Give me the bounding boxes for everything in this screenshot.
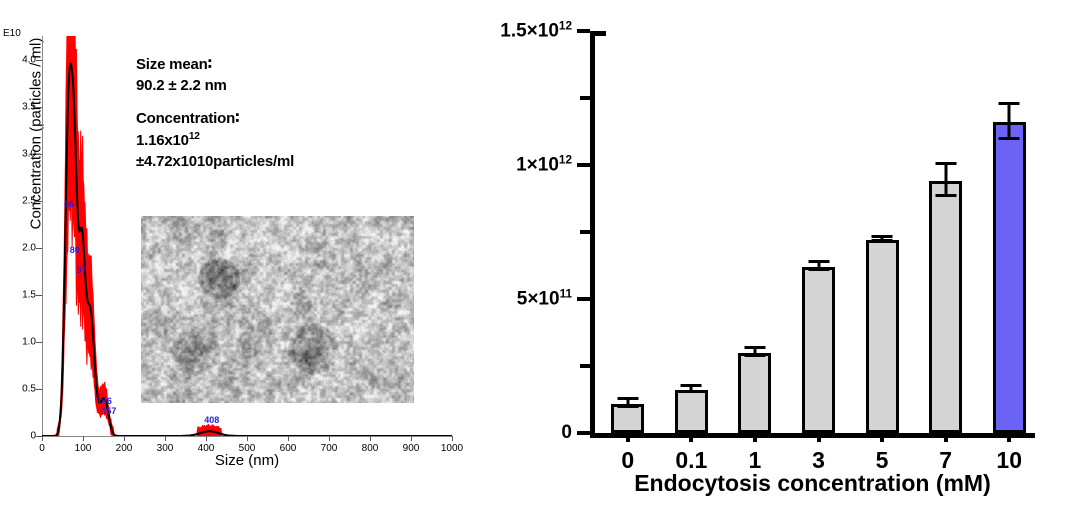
nta-peak-label: 66 [64,199,74,209]
nta-peak-label: 146 [97,396,112,406]
nta-y-tick-label: 0.5 [22,383,36,394]
nta-x-tick-mark [83,436,84,441]
bar-x-axis-title: Endocytosis concentration (mM) [590,470,1035,497]
bar-rect[interactable] [993,122,1026,433]
bar-column[interactable] [993,31,1026,433]
concentration-exponent: 12 [189,131,200,142]
bar-rect[interactable] [738,353,771,433]
nta-x-tick-mark [165,436,166,441]
bar-y-tick-label: 5×1011 [517,287,572,310]
bar-y-tick-minor [580,364,590,368]
concentration-mantissa: 1.16x10 [136,132,189,149]
bar-y-tick-major [577,431,590,435]
error-bar-cap-upper [681,384,702,387]
bar-y-tick-label: 1×1012 [516,153,572,176]
bar-x-tick-mark [626,433,630,442]
nta-x-tick-mark [124,436,125,441]
error-bar-cap-upper [744,346,765,349]
bar-column[interactable] [929,31,962,433]
bar-x-tick-mark [817,433,821,442]
bar-y-tick-label: 1.5×1012 [500,19,572,42]
nta-y-tick-label: 3.5 [22,101,36,112]
nta-x-tick-mark [452,436,453,441]
bar-y-tick-mantissa: 1×10 [516,155,559,176]
error-bar-stem [944,165,947,197]
error-bar-cap-lower [872,239,893,242]
nta-peak-label: 408 [204,415,219,425]
bar-y-tick-minor [580,230,590,234]
bar-column[interactable] [802,31,835,433]
bar-y-tick-major [577,163,590,167]
bar-rect[interactable] [866,240,899,433]
bar-y-tick-exponent: 12 [559,153,572,166]
bar-y-tick-exponent: 12 [559,19,572,32]
concentration-error: ±4.72x1010particles/ml [136,152,294,173]
nta-y-tick-label: 3.0 [22,148,36,159]
nta-y-tick-label: 1.0 [22,336,36,347]
bar-y-tick-major [577,297,590,301]
error-bar-cap-upper [617,397,638,400]
nta-x-tick-mark [288,436,289,441]
bar-rect[interactable] [611,404,644,433]
bar-y-tick-minor [580,96,590,100]
bar-y-tick-major [577,29,590,33]
error-bar-cap-lower [999,137,1020,140]
nta-peak-label: 97 [77,265,87,275]
bar-x-axis-line [590,433,1035,438]
bar-y-axis-top-cap [590,31,606,36]
bar-y-tick-mantissa: 0 [561,422,572,443]
nta-y-tick-label: 2.0 [22,242,36,253]
error-bar-stem [1008,105,1011,140]
bar-chart-panel: 05×10111×10121.5×1012 00.1135710 Endocyt… [470,0,1083,510]
nta-x-tick-mark [329,436,330,441]
bar-rect[interactable] [802,267,835,433]
error-bar-cap-lower [808,268,829,271]
error-bar-cap-lower [617,405,638,408]
nta-x-tick-mark [370,436,371,441]
bar-x-tick-mark [880,433,884,442]
bar-y-tick-mantissa: 1.5×10 [500,21,559,42]
size-mean-title: Size mean∶ [136,55,294,76]
concentration-value: 1.16x1012 [136,130,294,152]
nta-panel: E10 Concentration (particles / ml) 00.51… [0,0,470,510]
tem-micrograph-inset [141,216,414,403]
error-bar-cap-lower [681,390,702,393]
bar-column[interactable] [866,31,899,433]
bar-y-axis-line [590,31,595,433]
nta-y-tick-label: 4.0 [22,54,36,65]
bar-y-tick-exponent: 11 [560,287,572,300]
bar-y-tick-label: 0 [561,422,572,444]
error-bar-cap-lower [935,194,956,197]
nta-x-axis-title: Size (nm) [42,452,452,469]
annotation-spacer [136,96,294,109]
bar-column[interactable] [738,31,771,433]
concentration-title: Concentration∶ [136,109,294,130]
bar-column[interactable] [611,31,644,433]
nta-axis-multiplier: E10 [3,28,21,39]
bar-x-tick-mark [1007,433,1011,442]
bar-rect[interactable] [675,390,708,433]
nta-x-tick-mark [42,436,43,441]
bar-rect[interactable] [929,181,962,433]
bar-x-tick-mark [944,433,948,442]
error-bar-cap-lower [744,354,765,357]
bar-column[interactable] [675,31,708,433]
size-mean-value: 90.2 ± 2.2 nm [136,76,294,97]
nta-x-tick-mark [206,436,207,441]
error-bar-cap-upper [872,235,893,238]
error-bar-cap-upper [935,162,956,165]
bar-x-tick-mark [689,433,693,442]
error-bar-cap-upper [999,102,1020,105]
nta-y-tick-label: 2.5 [22,195,36,206]
nta-summary-annotation: Size mean∶ 90.2 ± 2.2 nm Concentration∶ … [136,55,294,172]
error-bar-cap-upper [808,260,829,263]
nta-x-tick-mark [411,436,412,441]
bar-x-tick-mark [753,433,757,442]
nta-y-tick-label: 1.5 [22,289,36,300]
bar-y-tick-mantissa: 5×10 [517,289,560,310]
nta-x-tick-mark [247,436,248,441]
bar-plot-area: 05×10111×10121.5×1012 00.1135710 [590,31,1035,433]
tem-image-canvas [141,216,414,403]
nta-peak-label: 157 [101,406,116,416]
nta-peak-label: 80 [70,245,80,255]
